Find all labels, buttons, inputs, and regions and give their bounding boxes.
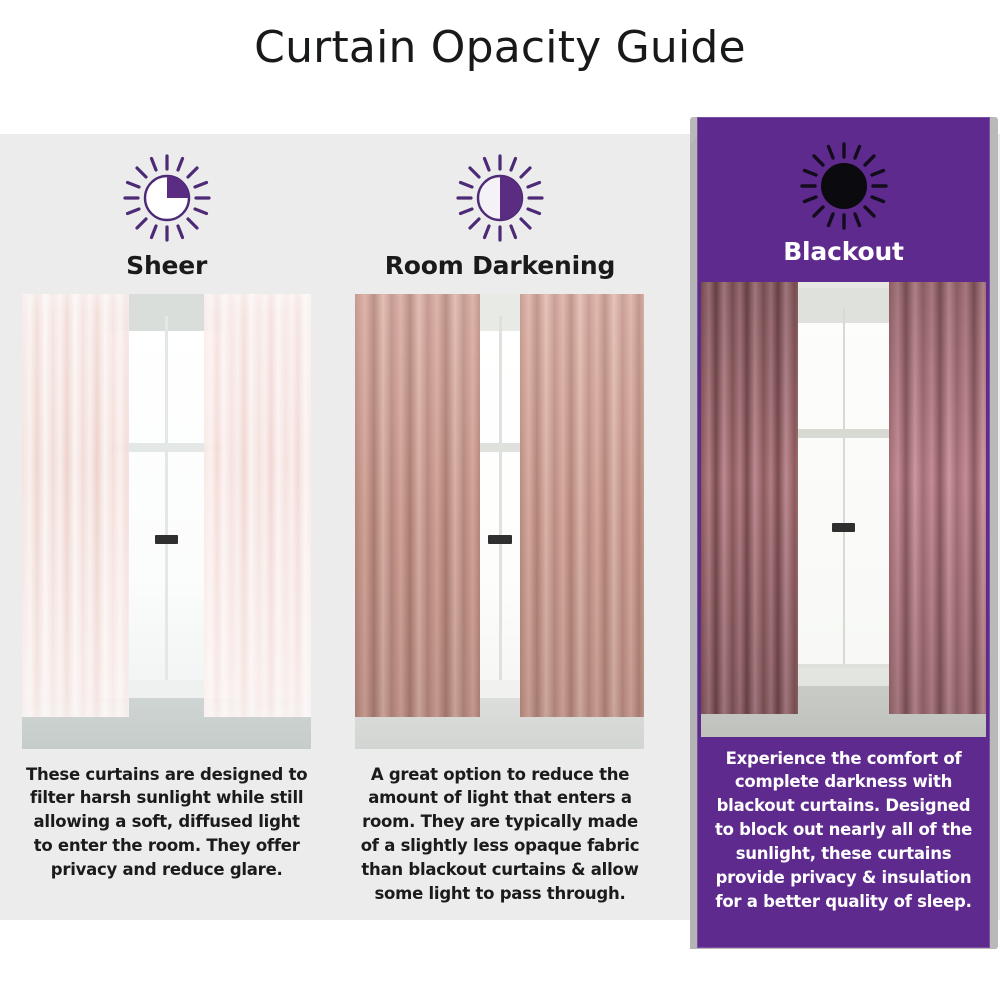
caption-room-darkening: A great option to reduce the amount of l… [357,763,642,907]
blackout-card-body: Blackout Experience the comfort of compl… [697,117,990,948]
page-title: Curtain Opacity Guide [0,22,1000,73]
curtain-right [520,294,644,717]
sun-quarter-filled-icon [119,150,215,246]
curtain-left [22,294,129,717]
column-heading-room-darkening: Room Darkening [385,252,615,280]
window-graphic [795,309,892,664]
curtain-left [355,294,479,717]
caption-sheer: These curtains are designed to filter ha… [24,763,309,883]
photo-room-darkening [355,294,644,749]
curtain-right [204,294,311,717]
caption-blackout: Experience the comfort of complete darkn… [706,747,982,914]
photo-sheer [22,294,311,749]
curtain-left [701,282,798,714]
column-sheer[interactable]: Sheer These curtains a [0,134,333,920]
sun-half-filled-icon [452,150,548,246]
curtain-right [889,282,986,714]
column-blackout[interactable]: Blackout Experience the comfort of compl… [690,111,1000,949]
column-room-darkening[interactable]: Room Darkening A great [333,134,666,920]
sun-full-filled-icon [796,138,892,234]
column-heading-blackout: Blackout [783,238,904,266]
column-heading-sheer: Sheer [126,252,207,280]
photo-blackout [701,282,986,737]
